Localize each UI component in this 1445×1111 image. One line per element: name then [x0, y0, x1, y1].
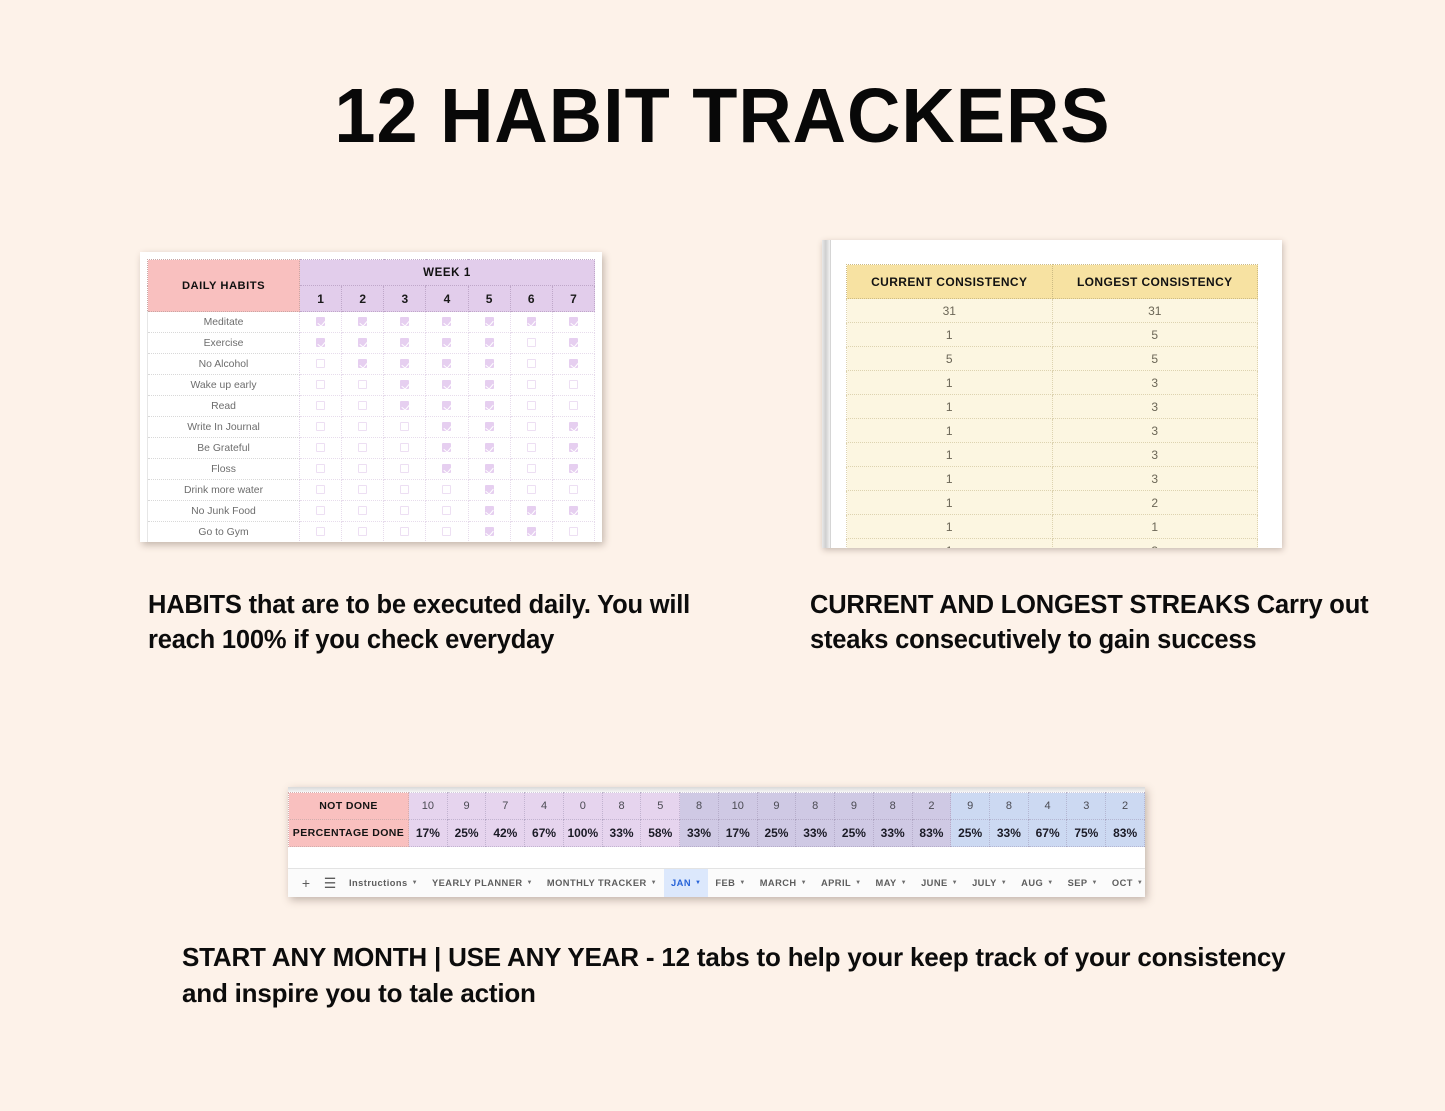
- checkbox-unchecked-icon[interactable]: [358, 506, 367, 515]
- page-title: 12 HABIT TRACKERS: [29, 78, 1416, 155]
- habit-checkbox-cell[interactable]: [300, 438, 342, 459]
- habit-checkbox-cell[interactable]: [510, 501, 552, 522]
- checkbox-checked-icon[interactable]: [400, 380, 409, 389]
- not-done-value: 4: [1028, 793, 1067, 820]
- habit-checkbox-cell[interactable]: [342, 396, 384, 417]
- habit-checkbox-cell[interactable]: [342, 354, 384, 375]
- not-done-value: 8: [602, 793, 641, 820]
- checkbox-unchecked-icon[interactable]: [316, 422, 325, 431]
- habit-checkbox-cell[interactable]: [300, 459, 342, 480]
- checkbox-checked-icon[interactable]: [358, 338, 367, 347]
- checkbox-unchecked-icon[interactable]: [316, 506, 325, 515]
- checkbox-unchecked-icon[interactable]: [316, 443, 325, 452]
- sheet-tab-label: MARCH: [760, 878, 797, 888]
- habit-checkbox-cell[interactable]: [426, 438, 468, 459]
- checkbox-checked-icon[interactable]: [400, 317, 409, 326]
- checkbox-unchecked-icon[interactable]: [358, 422, 367, 431]
- habit-checkbox-cell[interactable]: [342, 333, 384, 354]
- habit-checkbox-cell[interactable]: [384, 459, 426, 480]
- habit-checkbox-cell[interactable]: [552, 480, 594, 501]
- checkbox-checked-icon[interactable]: [569, 338, 578, 347]
- caption-streaks: CURRENT AND LONGEST STREAKS Carry out st…: [810, 588, 1370, 658]
- checkbox-checked-icon[interactable]: [442, 359, 451, 368]
- checkbox-checked-icon[interactable]: [569, 317, 578, 326]
- checkbox-checked-icon[interactable]: [485, 422, 494, 431]
- habit-checkbox-cell[interactable]: [342, 459, 384, 480]
- habit-checkbox-cell[interactable]: [426, 333, 468, 354]
- checkbox-unchecked-icon[interactable]: [400, 443, 409, 452]
- percentage-value: 25%: [951, 820, 990, 847]
- checkbox-checked-icon[interactable]: [485, 443, 494, 452]
- chevron-down-icon[interactable]: ▼: [1001, 880, 1007, 886]
- checkbox-unchecked-icon[interactable]: [527, 422, 536, 431]
- checkbox-unchecked-icon[interactable]: [442, 506, 451, 515]
- not-done-value: 10: [409, 793, 448, 820]
- chevron-down-icon[interactable]: ▼: [855, 880, 861, 886]
- sheet-tab-label: YEARLY PLANNER: [432, 878, 523, 888]
- sheet-tab-label: JULY: [972, 878, 997, 888]
- checkbox-checked-icon[interactable]: [358, 359, 367, 368]
- checkbox-unchecked-icon[interactable]: [569, 527, 578, 536]
- checkbox-checked-icon[interactable]: [485, 380, 494, 389]
- habit-checkbox-cell[interactable]: [552, 438, 594, 459]
- habit-row: Drink more water: [148, 480, 595, 501]
- percentage-value: 83%: [1106, 820, 1145, 847]
- checkbox-checked-icon[interactable]: [442, 443, 451, 452]
- not-done-value: 2: [912, 793, 951, 820]
- caption-habits: HABITS that are to be executed daily. Yo…: [148, 588, 748, 658]
- percentage-value: 33%: [796, 820, 835, 847]
- checkbox-checked-icon[interactable]: [442, 401, 451, 410]
- habit-checkbox-cell[interactable]: [468, 396, 510, 417]
- habit-checkbox-cell[interactable]: [300, 522, 342, 543]
- not-done-row: NOT DONE 109740858109898298432: [289, 793, 1145, 820]
- habit-checkbox-cell[interactable]: [342, 522, 384, 543]
- consistency-column-header: LONGEST CONSISTENCY: [1052, 265, 1258, 299]
- chevron-down-icon[interactable]: ▼: [651, 880, 657, 886]
- checkbox-checked-icon[interactable]: [569, 443, 578, 452]
- habit-row: Wake up early: [148, 375, 595, 396]
- day-header-2: 2: [342, 286, 384, 312]
- habit-checkbox-cell[interactable]: [384, 312, 426, 333]
- checkbox-unchecked-icon[interactable]: [527, 359, 536, 368]
- sheet-tab-monthly-tracker[interactable]: MONTHLY TRACKER▼: [540, 869, 664, 898]
- consistency-row: 13: [847, 371, 1258, 395]
- habit-checkbox-cell[interactable]: [384, 480, 426, 501]
- habit-checkbox-cell[interactable]: [468, 375, 510, 396]
- habit-checkbox-cell[interactable]: [552, 375, 594, 396]
- sheet-tab-feb[interactable]: FEB▼: [708, 869, 752, 898]
- percentage-value: 100%: [563, 820, 602, 847]
- sheet-tab-label: MONTHLY TRACKER: [547, 878, 647, 888]
- consistency-value: 1: [847, 467, 1053, 491]
- consistency-value: 3: [1052, 443, 1258, 467]
- consistency-row: 12: [847, 491, 1258, 515]
- checkbox-checked-icon[interactable]: [485, 485, 494, 494]
- percentage-value: 17%: [409, 820, 448, 847]
- sheet-tab-sep[interactable]: SEP▼: [1061, 869, 1105, 898]
- sheet-tab-label: JUNE: [921, 878, 948, 888]
- checkbox-unchecked-icon[interactable]: [527, 380, 536, 389]
- habit-row: Exercise: [148, 333, 595, 354]
- habit-tracker-table: DAILY HABITS WEEK 1 1234567 MeditateExer…: [147, 259, 595, 542]
- sheet-tab-instructions[interactable]: Instructions▼: [342, 869, 425, 898]
- checkbox-checked-icon[interactable]: [485, 506, 494, 515]
- checkbox-unchecked-icon[interactable]: [400, 527, 409, 536]
- chevron-down-icon[interactable]: ▼: [901, 880, 907, 886]
- chevron-down-icon[interactable]: ▼: [952, 880, 958, 886]
- consistency-row: 55: [847, 347, 1258, 371]
- consistency-value: 1: [847, 323, 1053, 347]
- checkbox-checked-icon[interactable]: [442, 317, 451, 326]
- habit-checkbox-cell[interactable]: [552, 417, 594, 438]
- consistency-value: 1: [847, 539, 1053, 549]
- not-done-value: 9: [447, 793, 486, 820]
- sheet-tab-march[interactable]: MARCH▼: [753, 869, 814, 898]
- habit-checkbox-cell[interactable]: [426, 396, 468, 417]
- chevron-down-icon[interactable]: ▼: [1092, 880, 1098, 886]
- not-done-value: 8: [796, 793, 835, 820]
- percentage-value: 25%: [447, 820, 486, 847]
- not-done-value: 9: [835, 793, 874, 820]
- habit-checkbox-cell[interactable]: [510, 480, 552, 501]
- checkbox-checked-icon[interactable]: [442, 422, 451, 431]
- sheet-tab-label: FEB: [715, 878, 735, 888]
- consistency-row: 11: [847, 515, 1258, 539]
- row-gutter: [822, 240, 831, 548]
- checkbox-unchecked-icon[interactable]: [527, 443, 536, 452]
- sheet-tab-label: SEP: [1068, 878, 1088, 888]
- consistency-value: 1: [847, 515, 1053, 539]
- consistency-value: 3: [1052, 395, 1258, 419]
- habit-label: Exercise: [148, 333, 300, 354]
- day-header-5: 5: [468, 286, 510, 312]
- habit-checkbox-cell[interactable]: [510, 396, 552, 417]
- percentage-value: 75%: [1067, 820, 1106, 847]
- not-done-value: 8: [873, 793, 912, 820]
- habit-checkbox-cell[interactable]: [468, 459, 510, 480]
- habit-checkbox-cell[interactable]: [426, 501, 468, 522]
- checkbox-unchecked-icon[interactable]: [358, 401, 367, 410]
- habit-checkbox-cell[interactable]: [468, 333, 510, 354]
- habit-checkbox-cell[interactable]: [552, 459, 594, 480]
- habit-checkbox-cell[interactable]: [384, 522, 426, 543]
- habit-checkbox-cell[interactable]: [426, 480, 468, 501]
- consistency-header-row: CURRENT CONSISTENCYLONGEST CONSISTENCY: [847, 265, 1258, 299]
- consistency-table-body: 313115551313131313121113: [847, 299, 1258, 549]
- checkbox-unchecked-icon[interactable]: [400, 464, 409, 473]
- consistency-value: 5: [847, 347, 1053, 371]
- checkbox-unchecked-icon[interactable]: [358, 464, 367, 473]
- habit-checkbox-cell[interactable]: [552, 396, 594, 417]
- habit-checkbox-cell[interactable]: [342, 375, 384, 396]
- checkbox-unchecked-icon[interactable]: [527, 485, 536, 494]
- checkbox-checked-icon[interactable]: [485, 338, 494, 347]
- consistency-table: CURRENT CONSISTENCYLONGEST CONSISTENCY 3…: [846, 264, 1258, 548]
- habit-checkbox-cell[interactable]: [426, 522, 468, 543]
- day-header-7: 7: [552, 286, 594, 312]
- sheet-tab-april[interactable]: APRIL▼: [814, 869, 869, 898]
- checkbox-checked-icon[interactable]: [527, 527, 536, 536]
- not-done-value: 10: [718, 793, 757, 820]
- checkbox-unchecked-icon[interactable]: [316, 401, 325, 410]
- habit-checkbox-cell[interactable]: [510, 354, 552, 375]
- consistency-value: 1: [1052, 515, 1258, 539]
- checkbox-checked-icon[interactable]: [316, 338, 325, 347]
- percentage-value: 25%: [757, 820, 796, 847]
- habit-checkbox-cell[interactable]: [468, 417, 510, 438]
- consistency-value: 2: [1052, 491, 1258, 515]
- percentage-value: 42%: [486, 820, 525, 847]
- chevron-down-icon[interactable]: ▼: [695, 880, 701, 886]
- chevron-down-icon[interactable]: ▼: [739, 880, 745, 886]
- not-done-value: 7: [486, 793, 525, 820]
- chevron-down-icon[interactable]: ▼: [412, 880, 418, 886]
- consistency-value: 3: [1052, 419, 1258, 443]
- checkbox-checked-icon[interactable]: [400, 359, 409, 368]
- checkbox-checked-icon[interactable]: [569, 464, 578, 473]
- sheet-tab-label: APRIL: [821, 878, 851, 888]
- habit-label: Meditate: [148, 312, 300, 333]
- habit-checkbox-cell[interactable]: [342, 480, 384, 501]
- habit-checkbox-cell[interactable]: [510, 333, 552, 354]
- consistency-value: 1: [847, 419, 1053, 443]
- habit-checkbox-cell[interactable]: [342, 417, 384, 438]
- checkbox-checked-icon[interactable]: [485, 527, 494, 536]
- checkbox-unchecked-icon[interactable]: [400, 506, 409, 515]
- sheet-tab-label: Instructions: [349, 878, 408, 888]
- not-done-value: 9: [951, 793, 990, 820]
- habit-row: Write In Journal: [148, 417, 595, 438]
- habit-checkbox-cell[interactable]: [300, 480, 342, 501]
- habit-checkbox-cell[interactable]: [552, 522, 594, 543]
- checkbox-unchecked-icon[interactable]: [527, 338, 536, 347]
- percentage-table: NOT DONE 109740858109898298432 PERCENTAG…: [288, 792, 1145, 874]
- checkbox-checked-icon[interactable]: [442, 464, 451, 473]
- habit-checkbox-cell[interactable]: [552, 312, 594, 333]
- habit-checkbox-cell[interactable]: [468, 480, 510, 501]
- week-header: WEEK 1: [300, 260, 595, 286]
- checkbox-unchecked-icon[interactable]: [527, 464, 536, 473]
- habit-checkbox-cell[interactable]: [510, 375, 552, 396]
- habit-checkbox-cell[interactable]: [342, 312, 384, 333]
- checkbox-checked-icon[interactable]: [485, 359, 494, 368]
- checkbox-unchecked-icon[interactable]: [358, 443, 367, 452]
- consistency-value: 3: [1052, 371, 1258, 395]
- sheet-tab-jan[interactable]: JAN▼: [664, 869, 708, 898]
- daily-habits-header: DAILY HABITS: [148, 260, 300, 312]
- checkbox-unchecked-icon[interactable]: [316, 380, 325, 389]
- habit-row: No Junk Food: [148, 501, 595, 522]
- habit-checkbox-cell[interactable]: [384, 501, 426, 522]
- checkbox-checked-icon[interactable]: [569, 359, 578, 368]
- percentage-value: 25%: [835, 820, 874, 847]
- checkbox-unchecked-icon[interactable]: [400, 422, 409, 431]
- habit-checkbox-cell[interactable]: [426, 375, 468, 396]
- habit-tracker-screenshot: DAILY HABITS WEEK 1 1234567 MeditateExer…: [140, 252, 602, 542]
- habit-label: No Junk Food: [148, 501, 300, 522]
- checkbox-unchecked-icon[interactable]: [527, 401, 536, 410]
- checkbox-unchecked-icon[interactable]: [316, 485, 325, 494]
- percentage-value: 33%: [680, 820, 719, 847]
- sheet-tab-label: AUG: [1021, 878, 1043, 888]
- habit-checkbox-cell[interactable]: [384, 333, 426, 354]
- habit-checkbox-cell[interactable]: [384, 375, 426, 396]
- checkbox-checked-icon[interactable]: [358, 317, 367, 326]
- checkbox-checked-icon[interactable]: [442, 338, 451, 347]
- checkbox-unchecked-icon[interactable]: [569, 485, 578, 494]
- sheet-tab-oct[interactable]: OCT▼: [1105, 869, 1145, 898]
- percentage-value: 33%: [602, 820, 641, 847]
- consistency-screenshot: CURRENT CONSISTENCYLONGEST CONSISTENCY 3…: [822, 240, 1282, 548]
- checkbox-unchecked-icon[interactable]: [400, 485, 409, 494]
- habit-label: Write In Journal: [148, 417, 300, 438]
- habit-label: No Alcohol: [148, 354, 300, 375]
- habit-checkbox-cell[interactable]: [384, 354, 426, 375]
- percentage-summary-area: NOT DONE 109740858109898298432 PERCENTAG…: [288, 792, 1145, 854]
- habit-row: No Alcohol: [148, 354, 595, 375]
- percentage-value: 83%: [912, 820, 951, 847]
- habit-checkbox-cell[interactable]: [510, 459, 552, 480]
- sheet-tab-may[interactable]: MAY▼: [869, 869, 915, 898]
- checkbox-unchecked-icon[interactable]: [358, 485, 367, 494]
- not-done-value: 8: [990, 793, 1029, 820]
- habit-checkbox-cell[interactable]: [510, 312, 552, 333]
- checkbox-unchecked-icon[interactable]: [442, 527, 451, 536]
- habit-checkbox-cell[interactable]: [552, 333, 594, 354]
- consistency-row: 13: [847, 395, 1258, 419]
- checkbox-unchecked-icon[interactable]: [442, 485, 451, 494]
- consistency-value: 5: [1052, 347, 1258, 371]
- sheet-tab-label: OCT: [1112, 878, 1133, 888]
- consistency-value: 3: [1052, 539, 1258, 549]
- habit-label: Go to Gym: [148, 522, 300, 543]
- sheet-tab-aug[interactable]: AUG▼: [1014, 869, 1060, 898]
- habit-checkbox-cell[interactable]: [384, 396, 426, 417]
- habit-checkbox-cell[interactable]: [468, 438, 510, 459]
- habit-checkbox-cell[interactable]: [468, 312, 510, 333]
- habit-checkbox-cell[interactable]: [384, 438, 426, 459]
- habit-checkbox-cell[interactable]: [300, 375, 342, 396]
- habit-checkbox-cell[interactable]: [510, 522, 552, 543]
- checkbox-unchecked-icon[interactable]: [358, 527, 367, 536]
- checkbox-unchecked-icon[interactable]: [316, 527, 325, 536]
- percentage-value: 33%: [990, 820, 1029, 847]
- not-done-value: 3: [1067, 793, 1106, 820]
- checkbox-checked-icon[interactable]: [400, 401, 409, 410]
- consistency-row: 13: [847, 443, 1258, 467]
- habit-checkbox-cell[interactable]: [426, 459, 468, 480]
- habit-label: Read: [148, 396, 300, 417]
- habit-row: Go to Gym: [148, 522, 595, 543]
- habit-checkbox-cell[interactable]: [300, 501, 342, 522]
- habit-checkbox-cell[interactable]: [426, 354, 468, 375]
- habit-checkbox-cell[interactable]: [510, 438, 552, 459]
- sheet-tab-july[interactable]: JULY▼: [965, 869, 1014, 898]
- consistency-column-header: CURRENT CONSISTENCY: [847, 265, 1053, 299]
- sheet-tab-june[interactable]: JUNE▼: [914, 869, 965, 898]
- checkbox-checked-icon[interactable]: [485, 317, 494, 326]
- day-header-4: 4: [426, 286, 468, 312]
- habit-row: Floss: [148, 459, 595, 480]
- consistency-value: 1: [847, 443, 1053, 467]
- consistency-value: 31: [847, 299, 1053, 323]
- habit-checkbox-cell[interactable]: [342, 438, 384, 459]
- plus-icon[interactable]: +: [294, 875, 318, 891]
- checkbox-checked-icon[interactable]: [527, 317, 536, 326]
- habit-checkbox-cell[interactable]: [510, 417, 552, 438]
- habit-label: Floss: [148, 459, 300, 480]
- habit-checkbox-cell[interactable]: [300, 312, 342, 333]
- habit-checkbox-cell[interactable]: [552, 501, 594, 522]
- percentage-value: 58%: [641, 820, 680, 847]
- chevron-down-icon[interactable]: ▼: [801, 880, 807, 886]
- sheet-tab-yearly-planner[interactable]: YEARLY PLANNER▼: [425, 869, 540, 898]
- checkbox-checked-icon[interactable]: [569, 506, 578, 515]
- checkbox-unchecked-icon[interactable]: [358, 380, 367, 389]
- not-done-value: 2: [1106, 793, 1145, 820]
- consistency-value: 1: [847, 395, 1053, 419]
- consistency-row: 13: [847, 467, 1258, 491]
- sheet-tab-label: MAY: [876, 878, 897, 888]
- habit-checkbox-cell[interactable]: [300, 396, 342, 417]
- checkbox-checked-icon[interactable]: [316, 317, 325, 326]
- all-sheets-icon[interactable]: ☰: [318, 875, 342, 892]
- habit-checkbox-cell[interactable]: [468, 501, 510, 522]
- checkbox-unchecked-icon[interactable]: [316, 359, 325, 368]
- checkbox-unchecked-icon[interactable]: [316, 464, 325, 473]
- checkbox-checked-icon[interactable]: [527, 506, 536, 515]
- habit-checkbox-cell[interactable]: [426, 417, 468, 438]
- habit-checkbox-cell[interactable]: [300, 417, 342, 438]
- percentage-done-row-label: PERCENTAGE DONE: [289, 820, 409, 847]
- not-done-value: 9: [757, 793, 796, 820]
- habit-checkbox-cell[interactable]: [552, 354, 594, 375]
- checkbox-unchecked-icon[interactable]: [569, 401, 578, 410]
- checkbox-unchecked-icon[interactable]: [569, 380, 578, 389]
- not-done-value: 0: [563, 793, 602, 820]
- chevron-down-icon[interactable]: ▼: [1047, 880, 1053, 886]
- habit-checkbox-cell[interactable]: [300, 354, 342, 375]
- spreadsheet-strip-screenshot: NOT DONE 109740858109898298432 PERCENTAG…: [288, 787, 1145, 897]
- checkbox-checked-icon[interactable]: [485, 401, 494, 410]
- checkbox-checked-icon[interactable]: [442, 380, 451, 389]
- not-done-value: 8: [680, 793, 719, 820]
- chevron-down-icon[interactable]: ▼: [527, 880, 533, 886]
- habit-checkbox-cell[interactable]: [426, 312, 468, 333]
- checkbox-checked-icon[interactable]: [400, 338, 409, 347]
- consistency-table-header: CURRENT CONSISTENCYLONGEST CONSISTENCY: [847, 265, 1258, 299]
- habit-row: Read: [148, 396, 595, 417]
- habit-checkbox-cell[interactable]: [468, 354, 510, 375]
- chevron-down-icon[interactable]: ▼: [1137, 880, 1143, 886]
- percentage-value: 17%: [718, 820, 757, 847]
- habit-checkbox-cell[interactable]: [342, 501, 384, 522]
- not-done-value: 5: [641, 793, 680, 820]
- sheet-tabs[interactable]: Instructions▼YEARLY PLANNER▼MONTHLY TRAC…: [342, 869, 1145, 898]
- habit-row: Be Grateful: [148, 438, 595, 459]
- habit-checkbox-cell[interactable]: [300, 333, 342, 354]
- percentage-value: 67%: [525, 820, 564, 847]
- checkbox-checked-icon[interactable]: [569, 422, 578, 431]
- consistency-row: 13: [847, 419, 1258, 443]
- checkbox-checked-icon[interactable]: [485, 464, 494, 473]
- habit-checkbox-cell[interactable]: [468, 522, 510, 543]
- habit-checkbox-cell[interactable]: [384, 417, 426, 438]
- sheet-tab-bar[interactable]: + ☰ Instructions▼YEARLY PLANNER▼MONTHLY …: [288, 868, 1145, 897]
- consistency-value: 1: [847, 491, 1053, 515]
- habit-table-body: MeditateExerciseNo AlcoholWake up earlyR…: [148, 312, 595, 543]
